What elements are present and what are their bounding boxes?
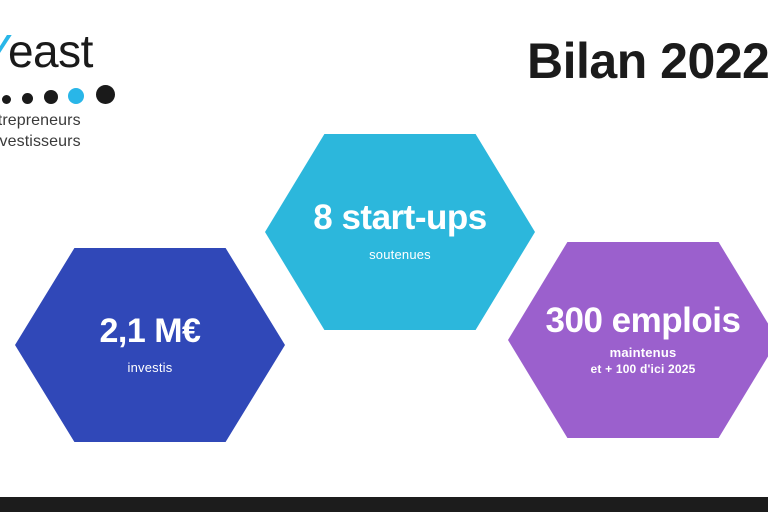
brand-wordmark-initial: Y — [0, 25, 8, 77]
brand-dot-4 — [44, 90, 58, 104]
metric-value-jobs: 300 emplois — [546, 303, 741, 340]
page-title: Bilan 2022 — [527, 34, 768, 89]
metric-caption-startups: soutenues — [369, 246, 431, 264]
metric-caption-invested-line-1: investis — [128, 359, 173, 377]
metric-value-startups: 8 start-ups — [313, 200, 486, 237]
brand-tagline-line-2: Investisseurs — [0, 131, 132, 152]
metric-caption-jobs-line-2: et + 100 d'ici 2025 — [590, 361, 695, 377]
metric-caption-invested: investis — [128, 359, 173, 377]
metric-caption-jobs: maintenus et + 100 d'ici 2025 — [590, 344, 695, 378]
brand-dot-2 — [2, 95, 11, 104]
brand-tagline-line-1: Entrepreneurs — [0, 110, 132, 131]
metric-caption-startups-line-1: soutenues — [369, 246, 431, 264]
hexagon-startups: 8 start-ups soutenues — [265, 134, 535, 330]
brand-dot-5-accent — [68, 88, 84, 104]
brand-tagline: Entrepreneurs Investisseurs — [0, 110, 132, 152]
hexagon-invested: 2,1 M€ investis — [15, 248, 285, 442]
brand-logo: Yeast Entrepreneurs Investisseurs — [0, 28, 162, 158]
slide-canvas: Yeast Entrepreneurs Investisseurs Bilan … — [0, 0, 768, 512]
brand-wordmark: Yeast — [0, 28, 93, 74]
bottom-bar — [0, 497, 768, 512]
brand-dot-3 — [22, 93, 33, 104]
brand-wordmark-rest: east — [8, 25, 93, 77]
brand-dot-6 — [96, 85, 115, 104]
brand-dots-graphic — [0, 82, 134, 106]
metric-caption-jobs-line-1: maintenus — [590, 344, 695, 362]
metric-value-invested: 2,1 M€ — [100, 314, 201, 350]
hexagon-jobs: 300 emplois maintenus et + 100 d'ici 202… — [508, 242, 768, 438]
